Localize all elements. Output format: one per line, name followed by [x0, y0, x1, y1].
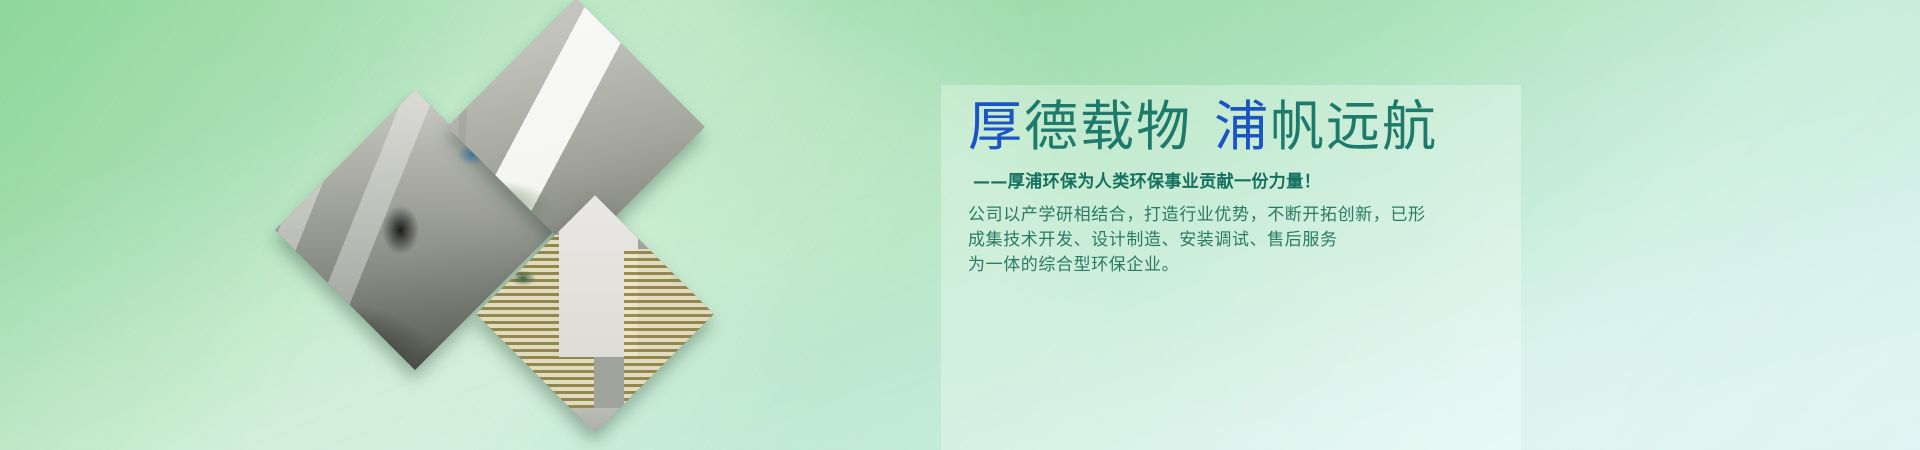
body-line: 为一体的综合型环保企业。	[968, 253, 1488, 278]
subtitle: ——厚浦环保为人类环保事业贡献一份力量！	[973, 167, 1321, 192]
body-copy: 公司以产学研相结合，打造行业优势，不断开拓创新，已形 成集技术开发、设计制造、安…	[968, 203, 1488, 278]
headline-base-1: 德载物	[1024, 95, 1192, 158]
hero-banner: 厚德载物浦帆远航 ——厚浦环保为人类环保事业贡献一份力量！ 公司以产学研相结合，…	[0, 0, 1920, 450]
photo-collage	[0, 0, 760, 450]
screen-floor	[476, 408, 714, 433]
headline-base-2: 帆远航	[1270, 95, 1438, 158]
body-line: 公司以产学研相结合，打造行业优势，不断开拓创新，已形	[968, 203, 1488, 228]
headline-accent-2: 浦	[1214, 95, 1270, 158]
screen-rake-bars	[624, 249, 714, 429]
headline: 厚德载物浦帆远航	[968, 97, 1438, 157]
text-panel: 厚德载物浦帆远航 ——厚浦环保为人类环保事业贡献一份力量！ 公司以产学研相结合，…	[941, 85, 1521, 450]
body-line: 成集技术开发、设计制造、安装调试、售后服务	[968, 228, 1488, 253]
headline-accent-1: 厚	[968, 95, 1024, 158]
